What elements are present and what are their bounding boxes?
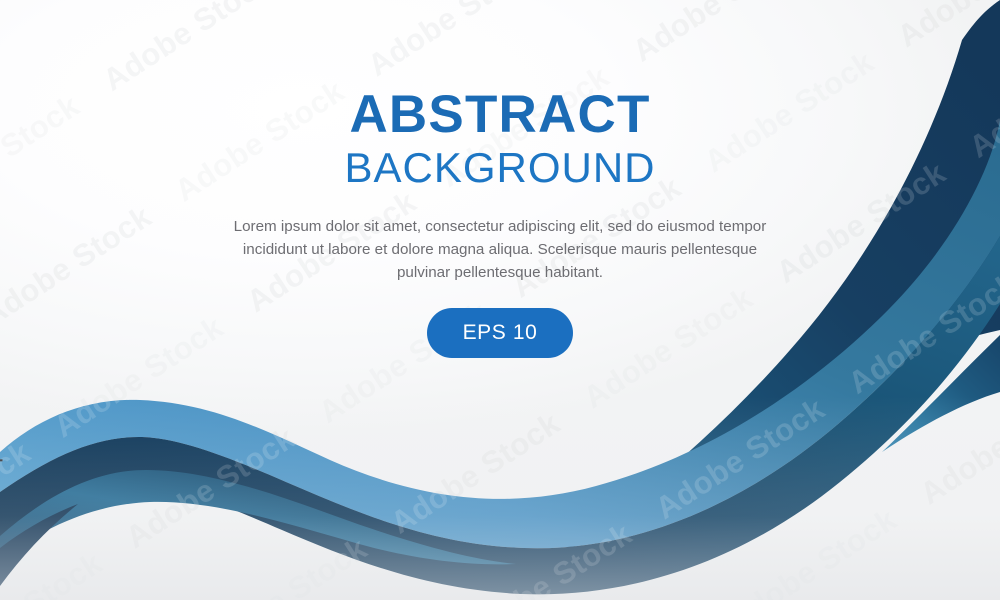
cta-container: EPS 10 <box>0 308 1000 358</box>
page-title: ABSTRACT <box>0 0 1000 141</box>
stock-id-label: Adobe Stock | #309755774 <box>0 365 4 564</box>
content-block: ABSTRACT BACKGROUND Lorem ipsum dolor si… <box>0 0 1000 358</box>
page-subtitle: BACKGROUND <box>0 141 1000 189</box>
abstract-background-canvas: Adobe Stock Adobe Stock Adobe Stock Adob… <box>0 0 1000 600</box>
eps-version-button[interactable]: EPS 10 <box>427 308 573 358</box>
body-paragraph: Lorem ipsum dolor sit amet, consectetur … <box>220 215 780 284</box>
